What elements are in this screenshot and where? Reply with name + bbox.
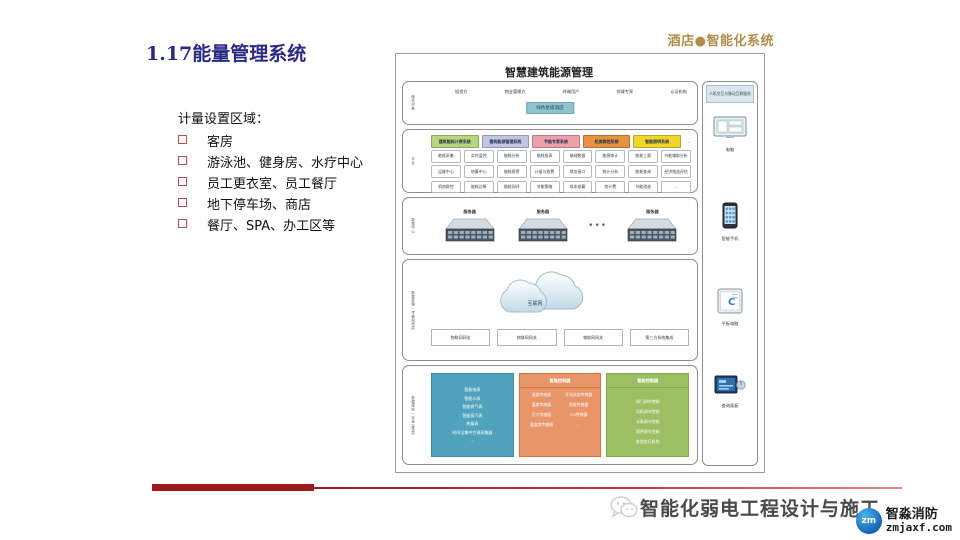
- sensor-panel: 智能控制器 流量传感器温度传感器压力传感器温湿度传感器 开关状态传感器照度传感器…: [519, 373, 602, 457]
- function-cell[interactable]: 实时监控: [464, 150, 494, 163]
- sensor-item: 压力传感器: [532, 412, 551, 418]
- function-row: 机房群控能耗诊断能耗测评节能策略成本核算物计费节能改造…: [431, 181, 691, 194]
- server-node: 服务器: [624, 209, 680, 243]
- function-cell[interactable]: 能耗采集: [431, 150, 461, 163]
- system-button[interactable]: 节能专家系统: [532, 135, 580, 148]
- desktop-computer-icon: [713, 116, 747, 144]
- smart-meter-panel: 智能电表智能水表智能燃气表智能蒸汽表热量表时间法集中空调采集器…: [431, 373, 514, 457]
- server-label: 服务器: [646, 209, 659, 215]
- bullet-item: 地下停车场、商店: [178, 194, 408, 213]
- left-block-lead: 计量设置区域：: [178, 108, 408, 127]
- function-cell[interactable]: 能耗测评: [497, 181, 527, 194]
- sensing-panels: 智能电表智能水表智能燃气表智能蒸汽表热量表时间法集中空调采集器… 智能控制器 流…: [431, 373, 689, 457]
- sensor-item: 温度传感器: [532, 402, 551, 408]
- actuator-panel: 智能控制器 阀门调节控制风机调节控制水泵调节控制照明调节控制各类执行机构: [606, 373, 689, 457]
- logo-domain: zmjaxf.com: [886, 522, 952, 534]
- sensor-item: 照度传感器: [569, 402, 588, 408]
- brand-tag: 酒店●智能化系统: [668, 30, 774, 49]
- device-item[interactable]: C 平板电脑: [703, 288, 757, 327]
- device-label: 查询面板: [722, 403, 739, 409]
- function-cell[interactable]: 节能改造: [628, 181, 658, 194]
- tablet-icon: C: [717, 288, 743, 318]
- meter-item: …: [470, 438, 474, 443]
- function-cell[interactable]: 统计分析: [595, 165, 625, 178]
- sensor-item: …: [577, 422, 581, 427]
- server-row: 服务器 服务器 •••服务器: [433, 204, 689, 248]
- service-target-layer: 服务对象 投资方物业管理方终端用户领域专家认证机构 绿色星级酒店: [402, 81, 698, 125]
- function-cell[interactable]: 运维中心: [431, 165, 461, 178]
- bullet-square-icon: [178, 198, 187, 207]
- function-cell[interactable]: 物计费: [595, 181, 625, 194]
- green-hotel-badge: 绿色星级酒店: [526, 102, 574, 114]
- slide-root: 酒店●智能化系统 1.17能量管理系统 计量设置区域： 客房 游泳池、健身房、水…: [0, 0, 960, 540]
- meter-item: 智能燃气表: [462, 404, 482, 410]
- meter-item: 热量表: [466, 421, 478, 427]
- stakeholder: 投资方: [455, 89, 468, 95]
- function-cell[interactable]: 能耗报表: [530, 150, 560, 163]
- cloud-icon: 互联网: [491, 267, 609, 317]
- bullet-label: 游泳池、健身房、水疗中心: [207, 152, 363, 171]
- bullet-label: 餐厅、SPA、办工区等: [207, 215, 335, 234]
- server-label: 服务器: [463, 209, 476, 215]
- stakeholder: 物业管理方: [505, 89, 526, 95]
- sensor-panel-header: 智能控制器: [520, 374, 601, 387]
- server-rack-icon: [442, 217, 498, 243]
- actuator-panel-body: 阀门调节控制风机调节控制水泵调节控制照明调节控制各类执行机构: [607, 387, 688, 456]
- footer-rule-thick: [152, 484, 314, 491]
- server-label: 服务器: [537, 209, 550, 215]
- function-cell[interactable]: 能耗上报: [628, 150, 658, 163]
- function-cell[interactable]: 节能辅助分析: [661, 150, 691, 163]
- query-terminal-icon: [714, 374, 746, 400]
- footer-text: 智能化弱电工程设计与施工: [640, 494, 880, 521]
- network-layer: 数据处理 / 传输网络层 互联网 物联网网关物联网网关物联网网关第三方系统集成: [402, 259, 698, 361]
- server-node: 服务器: [442, 209, 498, 243]
- meter-item: 智能水表: [464, 396, 480, 402]
- bullet-item: 游泳池、健身房、水疗中心: [178, 152, 408, 171]
- actuator-item: 照明调节控制: [636, 429, 659, 435]
- function-cell[interactable]: 经济效益评估: [661, 165, 691, 178]
- diagram-main-column: 服务对象 投资方物业管理方终端用户领域专家认证机构 绿色星级酒店 平台 建筑能耗…: [402, 81, 698, 466]
- device-label: 平板电脑: [722, 321, 739, 327]
- actuator-item: 各类执行机构: [636, 439, 659, 445]
- function-cell[interactable]: 基础数据: [563, 150, 593, 163]
- function-cell[interactable]: 能耗分析: [497, 150, 527, 163]
- page-title: 1.17能量管理系统: [146, 39, 306, 66]
- device-item[interactable]: 电脑: [703, 116, 757, 153]
- gateway-box[interactable]: 物联网网关: [431, 329, 490, 346]
- footer-rule-thin: [314, 487, 902, 489]
- smartphone-icon: [722, 202, 738, 233]
- page-title-text: 能量管理系统: [192, 43, 306, 65]
- function-cell[interactable]: …: [661, 181, 691, 194]
- diagram-title: 智慧建筑能源管理: [396, 64, 702, 80]
- function-row: 运维中心结算中心能耗报警计量与收费财务接口统计分析能耗查询经济效益评估: [431, 165, 691, 178]
- system-button[interactable]: 机房群控系统: [583, 135, 631, 148]
- function-cell[interactable]: 机房群控: [431, 181, 461, 194]
- function-grid: 能耗采集实时监控能耗分析能耗报表基础数据能源审计能耗上报节能辅助分析运维中心结算…: [431, 150, 691, 193]
- system-button-row: 建筑能耗计费系统建筑能源管理系统节能专家系统机房群控系统智能照明系统…: [431, 135, 691, 148]
- sensor-col-right: 开关状态传感器照度传感器CO传感器…: [560, 392, 597, 452]
- system-button[interactable]: 智能照明系统: [633, 135, 681, 148]
- function-cell[interactable]: 计量与收费: [530, 165, 560, 178]
- actuator-item: 水泵调节控制: [636, 419, 659, 425]
- bullet-item: 员工更衣室、员工餐厅: [178, 173, 408, 192]
- bullet-square-icon: [178, 219, 187, 228]
- meter-item: 时间法集中空调采集器: [452, 430, 492, 436]
- device-rail: 人机交互与移动互联服务 电脑 智能手机 C 平板电脑 查询面板: [702, 81, 758, 466]
- bullet-square-icon: [178, 177, 187, 186]
- internet-cloud: 互联网: [403, 266, 697, 318]
- meter-item: 智能蒸汽表: [462, 413, 482, 419]
- gateway-box[interactable]: 第三方系统集成: [630, 329, 689, 346]
- device-label: 电脑: [726, 147, 734, 153]
- datacenter-layer: 数据中心 服务器 服务器 •••服务器: [402, 197, 698, 255]
- architecture-diagram: 智慧建筑能源管理 服务对象 投资方物业管理方终端用户领域专家认证机构 绿色星级酒…: [395, 53, 765, 473]
- platform-layer: 平台 建筑能耗计费系统建筑能源管理系统节能专家系统机房群控系统智能照明系统… 能…: [402, 129, 698, 193]
- wechat-icon: [610, 496, 638, 522]
- bullet-item: 餐厅、SPA、办工区等: [178, 215, 408, 234]
- actuator-item: 风机调节控制: [636, 409, 659, 415]
- company-logo: zm 智淼消防 zmjaxf.com: [856, 508, 952, 534]
- bullet-item: 客房: [178, 131, 408, 150]
- bullet-list: 客房 游泳池、健身房、水疗中心 员工更衣室、员工餐厅 地下停车场、商店 餐厅、S…: [178, 131, 408, 234]
- actuator-item: 阀门调节控制: [636, 399, 659, 405]
- sensor-item: 温湿度传感器: [530, 422, 553, 428]
- bullet-square-icon: [178, 135, 187, 144]
- server-rack-icon: [515, 217, 571, 243]
- service-target-vlabel: 服务对象: [406, 82, 419, 124]
- meter-item: 智能电表: [464, 387, 480, 393]
- function-cell[interactable]: 成本核算: [563, 181, 593, 194]
- sensing-vlabel: 数据感知 / 仪表仪表层: [406, 366, 419, 464]
- device-label: 智能手机: [722, 236, 739, 242]
- stakeholder: 领域专家: [616, 89, 633, 95]
- system-more-icon[interactable]: …: [684, 139, 691, 145]
- function-cell[interactable]: 能耗报警: [497, 165, 527, 178]
- bullet-label: 地下停车场、商店: [207, 194, 311, 213]
- gateway-box[interactable]: 物联网网关: [497, 329, 556, 346]
- stakeholder: 终端用户: [563, 89, 580, 95]
- gateway-box[interactable]: 物联网网关: [564, 329, 623, 346]
- sensor-item: 开关状态传感器: [565, 392, 592, 398]
- function-cell[interactable]: 结算中心: [464, 165, 494, 178]
- system-button[interactable]: 建筑能源管理系统: [482, 135, 530, 148]
- sensing-layer: 数据感知 / 仪表仪表层 智能电表智能水表智能燃气表智能蒸汽表热量表时间法集中空…: [402, 365, 698, 465]
- sensor-col-left: 流量传感器温度传感器压力传感器温湿度传感器: [523, 392, 560, 452]
- gateway-row: 物联网网关物联网网关物联网网关第三方系统集成: [431, 329, 689, 346]
- platform-vlabel: 平台: [406, 130, 419, 192]
- sensor-item: 流量传感器: [532, 392, 551, 398]
- system-button[interactable]: 建筑能耗计费系统: [431, 135, 479, 148]
- bullet-square-icon: [178, 156, 187, 165]
- server-ellipsis: •••: [588, 221, 607, 231]
- logo-mark: zm: [856, 508, 882, 534]
- sensor-panel-body: 流量传感器温度传感器压力传感器温湿度传感器 开关状态传感器照度传感器CO传感器…: [520, 387, 601, 456]
- logo-name: 智淼消防: [886, 508, 952, 522]
- function-cell[interactable]: 能源审计: [595, 150, 625, 163]
- svg-text:C: C: [728, 297, 735, 308]
- function-cell[interactable]: 财务接口: [563, 165, 593, 178]
- left-text-block: 计量设置区域： 客房 游泳池、健身房、水疗中心 员工更衣室、员工餐厅 地下停车场…: [178, 108, 408, 236]
- server-node: 服务器: [515, 209, 571, 243]
- device-item[interactable]: 查询面板: [703, 374, 757, 409]
- function-row: 能耗采集实时监控能耗分析能耗报表基础数据能源审计能耗上报节能辅助分析: [431, 150, 691, 163]
- device-rail-header: 人机交互与移动互联服务: [706, 85, 754, 103]
- function-cell[interactable]: 节能策略: [530, 181, 560, 194]
- bullet-label: 客房: [207, 131, 233, 150]
- stakeholder: 认证机构: [670, 89, 687, 95]
- sensor-item: CO传感器: [570, 412, 587, 418]
- cloud-label: 互联网: [527, 300, 542, 307]
- device-item[interactable]: 智能手机: [703, 202, 757, 242]
- function-cell[interactable]: 能耗诊断: [464, 181, 494, 194]
- function-cell[interactable]: 能耗查询: [628, 165, 658, 178]
- stakeholder-row: 投资方物业管理方终端用户领域专家认证机构: [455, 89, 687, 95]
- actuator-panel-header: 智能控制器: [607, 374, 688, 387]
- bullet-label: 员工更衣室、员工餐厅: [207, 173, 337, 192]
- datacenter-vlabel: 数据中心: [406, 198, 419, 254]
- page-title-number: 1.17: [146, 43, 192, 65]
- server-rack-icon: [624, 217, 680, 243]
